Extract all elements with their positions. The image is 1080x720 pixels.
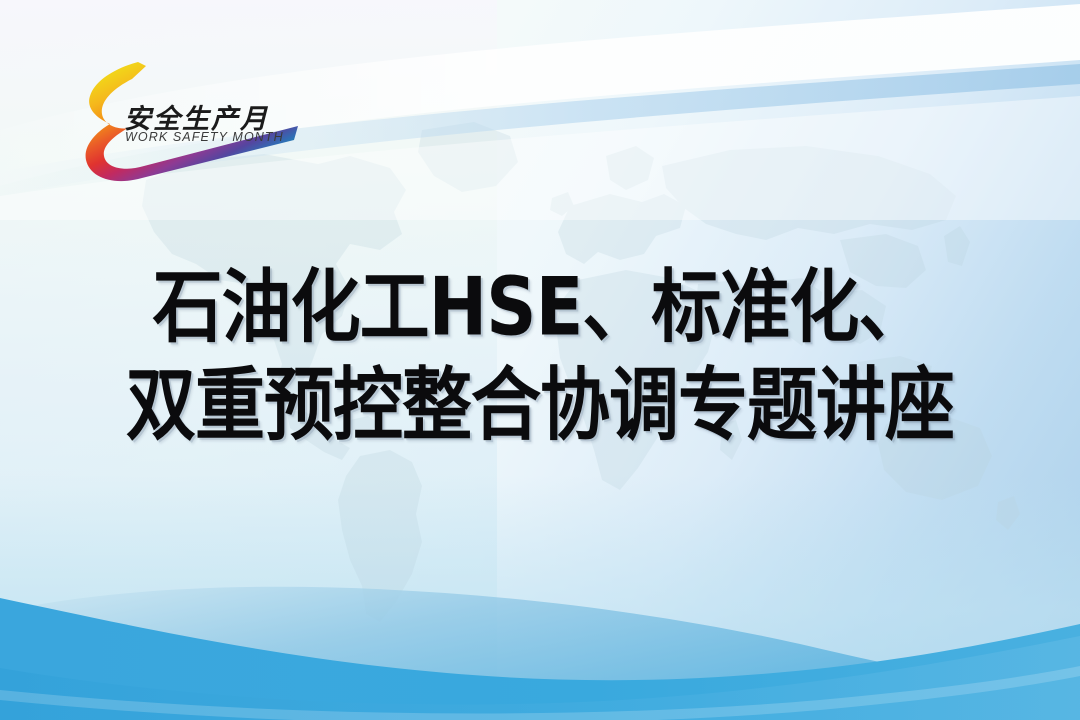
page-title: 石油化工HSE、标准化、 双重预控整合协调专题讲座 [0,258,1080,442]
title-line-2: 双重预控整合协调专题讲座 [0,356,1080,454]
logo-title-en: WORK SAFETY MONTH [125,130,284,144]
work-safety-month-logo: 安全生产月 WORK SAFETY MONTH [72,56,302,184]
title-line-1: 石油化工HSE、标准化、 [0,258,1080,356]
poster-canvas: 安全生产月 WORK SAFETY MONTH 石油化工HSE、标准化、 双重预… [0,0,1080,720]
